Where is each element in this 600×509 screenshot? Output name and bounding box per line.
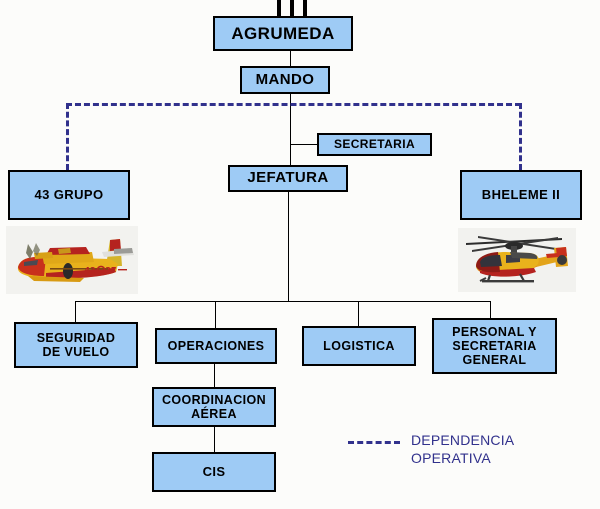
node-operaciones-label: OPERACIONES [165,339,268,353]
connector-bus-horizontal [75,301,490,302]
node-personal-y-secretaria-general-label: PERSONAL Y SECRETARIA GENERAL [449,325,540,367]
dashed-operative-to-bheleme [519,103,522,170]
canadair-cl215-firefighting-aircraft-icon: 43 27 [6,226,138,294]
node-cis-label: CIS [200,465,229,480]
organization-chart: AGRUMEDA MANDO SECRETARIA JEFATURA 43 GR… [0,0,600,509]
node-agrumeda[interactable]: AGRUMEDA [213,16,353,51]
three-bar-rank-insignia-bar-1 [277,0,281,16]
node-bheleme-ii-label: BHELEME II [479,188,563,203]
legend-dashed-line-swatch [348,441,400,444]
svg-text:27: 27 [105,266,116,275]
node-mando-label: MANDO [253,72,318,89]
connector-bus-to-operaciones [215,301,216,328]
node-cis[interactable]: CIS [152,452,276,492]
node-43-grupo-label: 43 GRUPO [32,188,107,203]
connector-jefatura-bus [288,192,289,301]
connector-bus-to-seguridad [75,301,76,322]
node-43-grupo[interactable]: 43 GRUPO [8,170,130,220]
node-coordinacion-aerea-label: COORDINACION AÉREA [159,393,269,421]
connector-coordinacion-cis [214,427,215,452]
eurocopter-ec135-helicopter-icon [458,228,576,292]
dashed-operative-to-grupo43 [66,103,69,170]
canadair-cl215-firefighting-aircraft-photo: 43 27 [6,226,138,294]
node-mando[interactable]: MANDO [240,66,330,94]
node-jefatura-label: JEFATURA [244,170,331,187]
node-jefatura[interactable]: JEFATURA [228,165,348,192]
legend-label: DEPENDENCIA OPERATIVA [411,432,514,467]
node-seguridad-de-vuelo-label: SEGURIDAD DE VUELO [34,331,119,359]
node-secretaria[interactable]: SECRETARIA [317,133,432,156]
three-bar-rank-insignia-bar-2 [290,0,294,16]
node-agrumeda-label: AGRUMEDA [228,24,337,43]
node-logistica-label: LOGISTICA [320,339,398,353]
dashed-operative-bus [66,103,521,106]
three-bar-rank-insignia-bar-3 [303,0,307,16]
legend: DEPENDENCIA OPERATIVA [348,432,514,467]
node-operaciones[interactable]: OPERACIONES [155,328,277,364]
node-personal-y-secretaria-general[interactable]: PERSONAL Y SECRETARIA GENERAL [432,318,557,374]
node-bheleme-ii[interactable]: BHELEME II [460,170,582,220]
node-logistica[interactable]: LOGISTICA [302,326,416,366]
connector-bus-to-logistica [358,301,359,326]
connector-bus-to-personal [490,301,491,318]
svg-text:43: 43 [84,266,95,275]
connector-mando-secretaria [290,144,317,145]
connector-agrumeda-mando [290,51,291,66]
node-secretaria-label: SECRETARIA [331,138,418,151]
node-seguridad-de-vuelo[interactable]: SEGURIDAD DE VUELO [14,322,138,368]
node-coordinacion-aerea[interactable]: COORDINACION AÉREA [152,387,276,427]
connector-operaciones-coordinacion [214,364,215,387]
eurocopter-ec135-helicopter-photo [458,228,576,292]
